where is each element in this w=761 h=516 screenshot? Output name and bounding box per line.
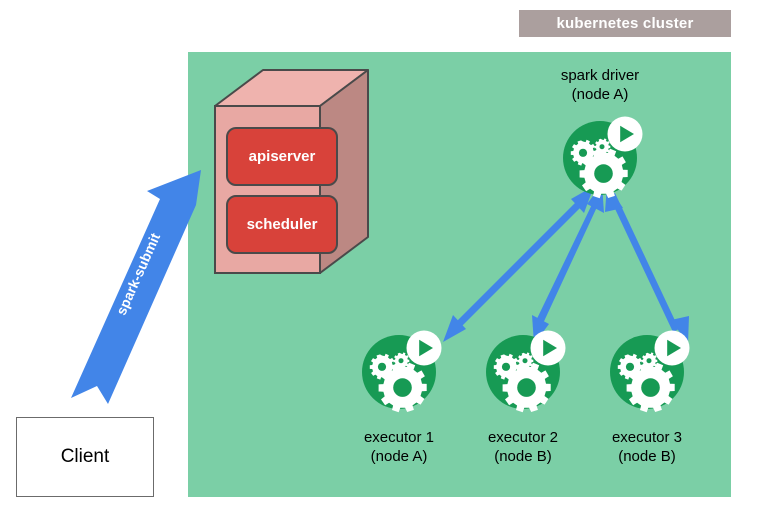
executor-2-node: (node B) xyxy=(463,447,583,466)
control-plane-cube xyxy=(215,70,368,273)
scheduler-component-box xyxy=(227,196,337,253)
apiserver-component-box xyxy=(227,128,337,185)
executor-2-caption: executor 2 (node B) xyxy=(463,428,583,466)
executor-1-node: (node A) xyxy=(339,447,459,466)
executor-3-caption: executor 3 (node B) xyxy=(587,428,707,466)
spark-driver-node: (node A) xyxy=(530,85,670,104)
executor-3-node: (node B) xyxy=(587,447,707,466)
executor-2-title: executor 2 xyxy=(463,428,583,447)
spark-driver-title: spark driver xyxy=(530,66,670,85)
spark-submit-arrow xyxy=(71,170,201,404)
spark-driver-caption: spark driver (node A) xyxy=(530,66,670,104)
executor-3-title: executor 3 xyxy=(587,428,707,447)
executor-1-caption: executor 1 (node A) xyxy=(339,428,459,466)
client-box: Client xyxy=(16,417,154,497)
diagram-canvas: kubernetes cluster apiserver scheduler s… xyxy=(0,0,761,516)
client-label: Client xyxy=(61,446,110,468)
kubernetes-cluster-label: kubernetes cluster xyxy=(519,10,731,37)
executor-1-title: executor 1 xyxy=(339,428,459,447)
